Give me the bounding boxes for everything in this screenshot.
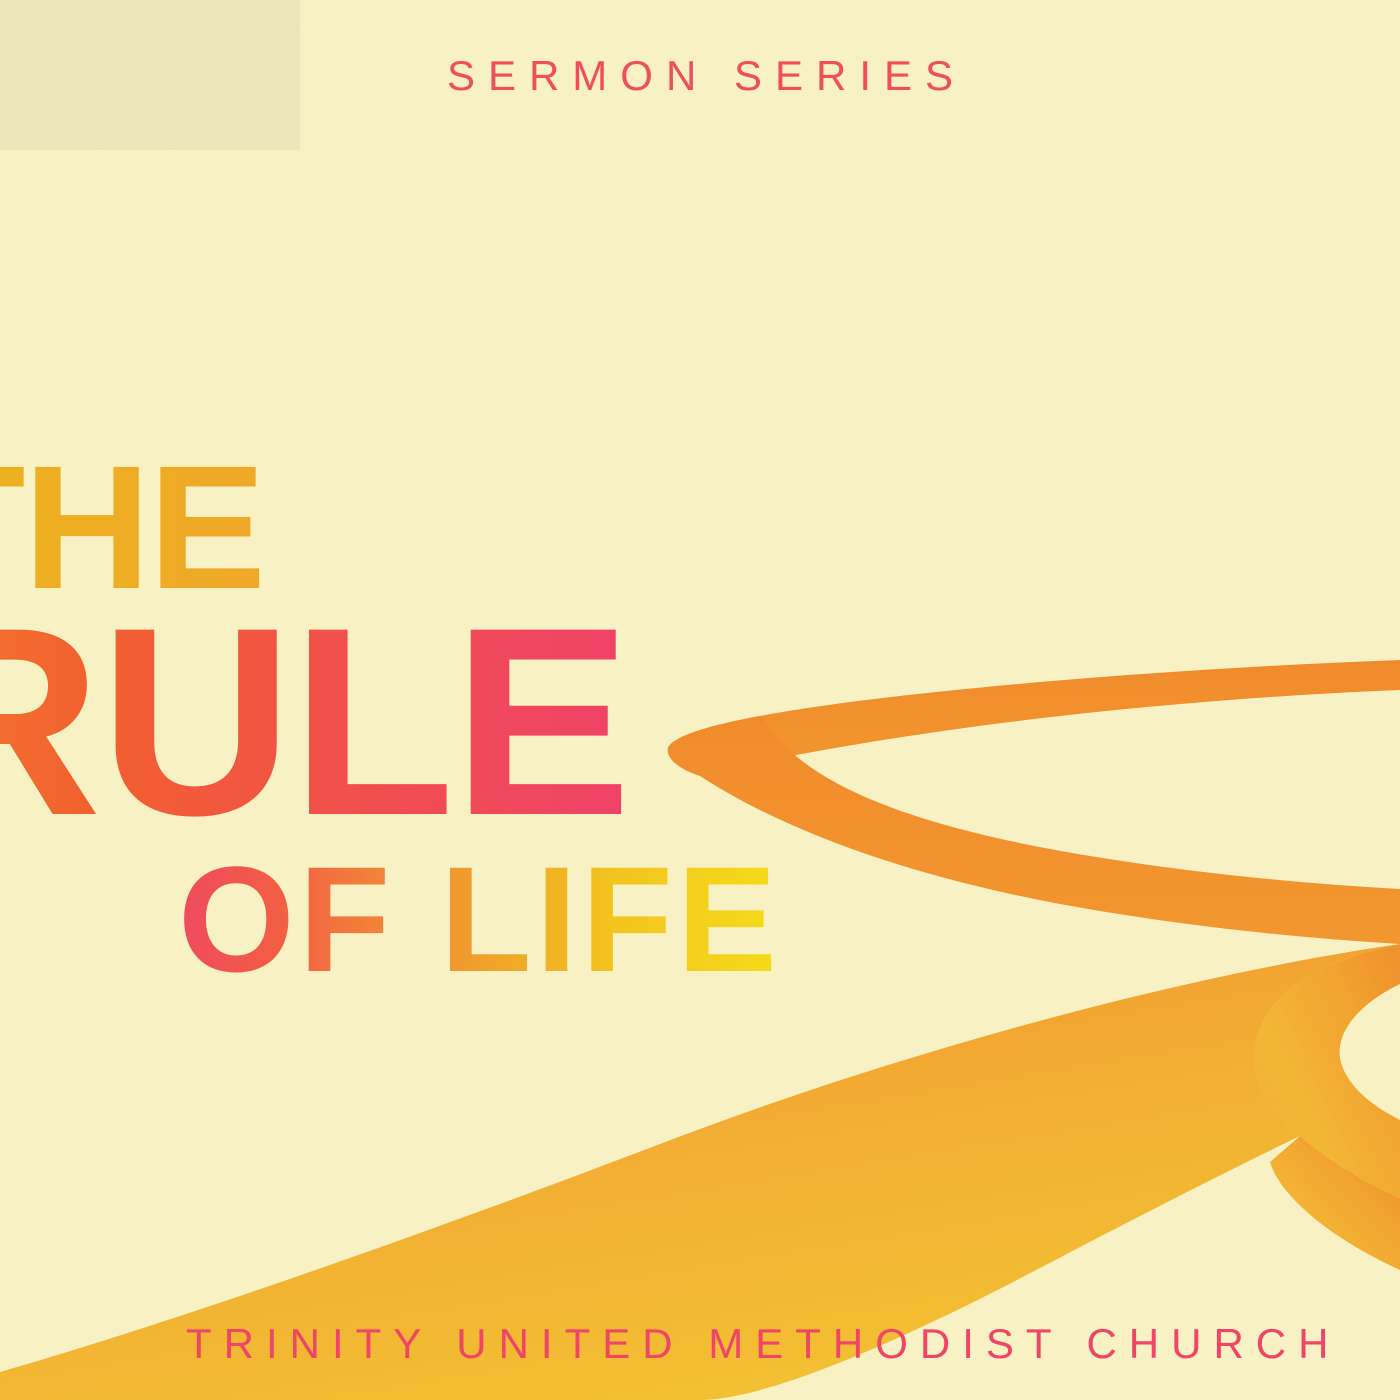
eyebrow-sermon-series: SERMON SERIES: [0, 52, 1400, 100]
sermon-series-poster: SERMON SERIES THE RULE OF LIFE TRINITY U…: [0, 0, 1400, 1400]
page-title: THE RULE OF LIFE: [0, 455, 781, 982]
title-line-of-life: OF LIFE: [178, 856, 781, 982]
title-line-rule: RULE: [0, 609, 781, 834]
footer-church-name: TRINITY UNITED METHODIST CHURCH: [186, 1320, 1340, 1368]
